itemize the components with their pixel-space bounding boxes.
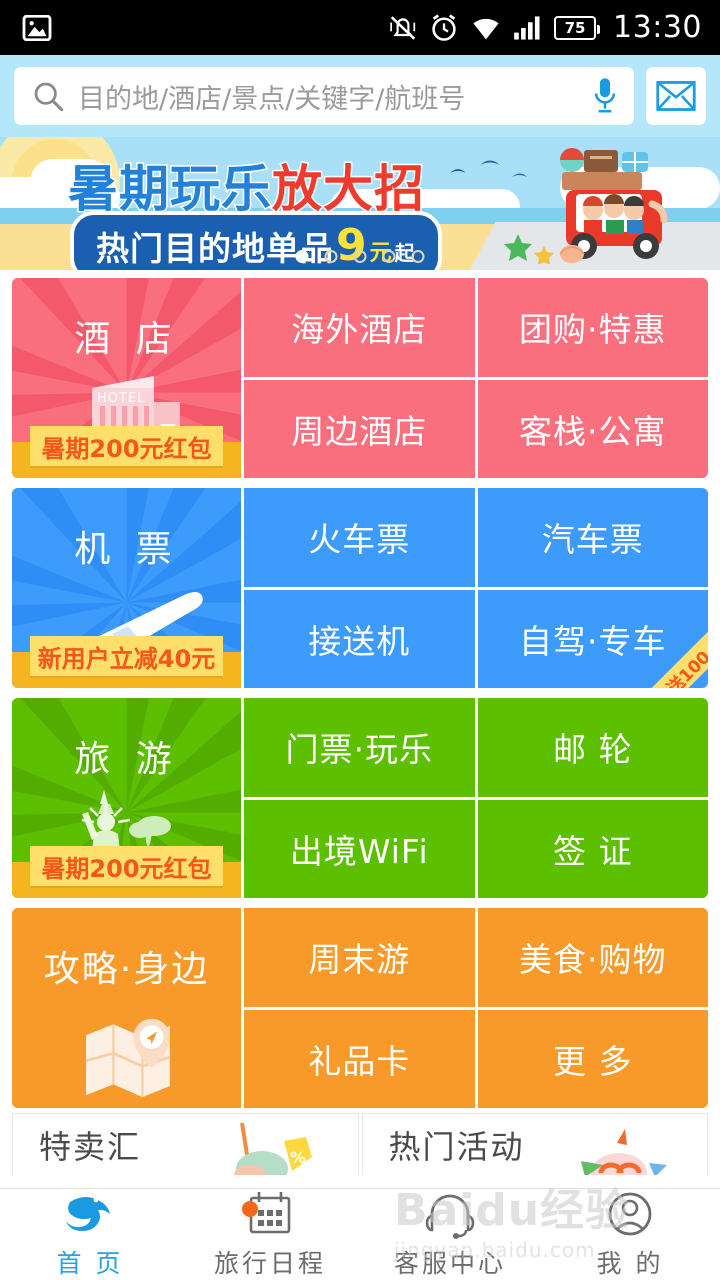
category-main-travel[interactable]: 旅 游 暑期200元红包 bbox=[12, 698, 244, 898]
banner-title-part1: 暑期玩乐 bbox=[68, 160, 272, 218]
person-icon bbox=[605, 1190, 655, 1240]
search-header: 目的地/酒店/景点/关键字/航班号 bbox=[0, 55, 720, 137]
cell-label: 礼品卡 bbox=[308, 1035, 410, 1083]
tab-itinerary[interactable]: 旅行日程 bbox=[180, 1189, 360, 1280]
status-bar-left bbox=[22, 15, 52, 41]
message-button[interactable] bbox=[646, 67, 706, 125]
cell-label: 出境WiFi bbox=[290, 825, 429, 873]
tab-label: 首 页 bbox=[57, 1244, 124, 1280]
category-main-flight[interactable]: 机 票 新用户立减40元 bbox=[12, 488, 244, 688]
tab-label: 旅行日程 bbox=[214, 1244, 326, 1280]
category-cell-overseas-hotel[interactable]: 海外酒店 bbox=[244, 278, 475, 377]
map-pin-icon bbox=[52, 1006, 202, 1108]
category-block-guide: 攻略·身边 周末游 美食·购物 礼品卡 更 多 bbox=[12, 908, 708, 1108]
dolphin-icon bbox=[62, 1190, 118, 1240]
tab-label: 客服中心 bbox=[394, 1244, 506, 1280]
category-cell-food-shopping[interactable]: 美食·购物 bbox=[478, 908, 709, 1007]
status-bar-right: 75 13:30 bbox=[388, 10, 702, 45]
tab-support[interactable]: 客服中心 bbox=[360, 1189, 540, 1280]
banner-dot-2[interactable] bbox=[325, 250, 338, 263]
vibrate-off-icon bbox=[388, 14, 418, 42]
svg-text:%: % bbox=[290, 1148, 306, 1167]
battery-icon: 75 bbox=[554, 16, 596, 40]
cell-label: 客栈·公寓 bbox=[519, 405, 667, 453]
wifi-icon bbox=[470, 14, 502, 42]
cell-label: 接送机 bbox=[308, 615, 410, 663]
itinerary-badge-dot bbox=[242, 1201, 258, 1217]
image-icon bbox=[22, 15, 52, 41]
cell-label: 美食·购物 bbox=[519, 933, 667, 981]
promo-badge-hotel[interactable]: 暑期200元红包 bbox=[30, 426, 223, 466]
category-cell-more[interactable]: 更 多 bbox=[478, 1010, 709, 1109]
category-main-hotel[interactable]: 酒 店 HOTEL 暑期200元红 bbox=[12, 278, 244, 478]
promo-badge-flight[interactable]: 新用户立减40元 bbox=[30, 636, 223, 676]
sale-tag-icon: % bbox=[228, 1121, 318, 1175]
banner-dot-3[interactable] bbox=[354, 250, 367, 263]
category-cell-tickets-fun[interactable]: 门票·玩乐 bbox=[244, 698, 475, 797]
feature-card-sale[interactable]: 特卖汇 % bbox=[12, 1113, 359, 1175]
search-icon bbox=[32, 80, 64, 112]
tab-profile[interactable]: 我 的 bbox=[540, 1189, 720, 1280]
search-input[interactable]: 目的地/酒店/景点/关键字/航班号 bbox=[14, 67, 634, 125]
category-cell-gift-card[interactable]: 礼品卡 bbox=[244, 1010, 475, 1109]
headset-icon bbox=[424, 1190, 476, 1240]
cell-label: 团购·特惠 bbox=[519, 303, 667, 351]
tab-label: 我 的 bbox=[597, 1244, 664, 1280]
cell-label: 邮 轮 bbox=[553, 723, 633, 771]
tab-home[interactable]: 首 页 bbox=[0, 1189, 180, 1280]
category-cell-inn-apartment[interactable]: 客栈·公寓 bbox=[478, 380, 709, 479]
category-title-travel: 旅 游 bbox=[74, 730, 178, 782]
category-block-travel: 旅 游 暑期200元红包 bbox=[12, 698, 708, 898]
category-cell-nearby-hotel[interactable]: 周边酒店 bbox=[244, 380, 475, 479]
category-cells-travel: 门票·玩乐 邮 轮 出境WiFi 签 证 bbox=[244, 698, 708, 898]
banner-dot-1[interactable] bbox=[296, 250, 309, 263]
category-cell-airport-transfer[interactable]: 接送机 bbox=[244, 590, 475, 689]
beach-items-icon bbox=[500, 228, 590, 264]
feature-card-activity[interactable]: 热门活动 bbox=[362, 1113, 709, 1175]
category-cells-guide: 周末游 美食·购物 礼品卡 更 多 bbox=[244, 908, 708, 1108]
category-grid: 酒 店 HOTEL 暑期200元红 bbox=[0, 278, 720, 1118]
category-cell-visa[interactable]: 签 证 bbox=[478, 800, 709, 899]
status-bar: 75 13:30 bbox=[0, 0, 720, 55]
category-title-hotel: 酒 店 bbox=[74, 310, 178, 362]
microphone-icon[interactable] bbox=[592, 77, 618, 115]
cell-label: 海外酒店 bbox=[291, 303, 427, 351]
alarm-icon bbox=[429, 13, 459, 43]
cell-label: 周边酒店 bbox=[291, 405, 427, 453]
category-cell-weekend-trip[interactable]: 周末游 bbox=[244, 908, 475, 1007]
app-root: 75 13:30 目的地/酒店/景点/关键字/航班号 bbox=[0, 0, 720, 1280]
signal-icon bbox=[513, 15, 543, 41]
cell-label: 自驾·专车 bbox=[519, 615, 667, 663]
cell-label: 签 证 bbox=[553, 825, 633, 873]
promo-banner[interactable]: 暑期玩乐放大招 热门目的地单品 9 元 起 bbox=[0, 137, 720, 270]
category-cell-overseas-wifi[interactable]: 出境WiFi bbox=[244, 800, 475, 899]
category-cell-groupon-deals[interactable]: 团购·特惠 bbox=[478, 278, 709, 377]
category-cells-hotel: 海外酒店 团购·特惠 周边酒店 客栈·公寓 bbox=[244, 278, 708, 478]
category-cell-cruise[interactable]: 邮 轮 bbox=[478, 698, 709, 797]
cell-label: 门票·玩乐 bbox=[286, 723, 434, 771]
battery-level: 75 bbox=[565, 19, 586, 37]
promo-badge-travel[interactable]: 暑期200元红包 bbox=[30, 846, 223, 886]
bottom-tab-bar: 首 页 旅行日程 客服中心 bbox=[0, 1188, 720, 1280]
search-placeholder-text: 目的地/酒店/景点/关键字/航班号 bbox=[78, 77, 592, 116]
banner-dot-4[interactable] bbox=[383, 250, 396, 263]
cell-label: 更 多 bbox=[553, 1035, 633, 1083]
category-cell-selfdrive-chauffeur[interactable]: 自驾·专车 送100 bbox=[478, 590, 709, 689]
category-title-flight: 机 票 bbox=[74, 520, 178, 572]
cell-label: 汽车票 bbox=[542, 513, 644, 561]
banner-title-part2: 放大招 bbox=[272, 160, 425, 218]
cell-label: 周末游 bbox=[308, 933, 410, 981]
feature-card-title: 热门活动 bbox=[389, 1122, 525, 1168]
banner-dot-5[interactable] bbox=[412, 250, 425, 263]
category-main-guide[interactable]: 攻略·身边 bbox=[12, 908, 244, 1108]
category-block-hotel: 酒 店 HOTEL 暑期200元红 bbox=[12, 278, 708, 478]
banner-dots bbox=[296, 250, 425, 263]
feature-cards: 特卖汇 % 热门活动 bbox=[12, 1113, 708, 1175]
cell-label: 火车票 bbox=[308, 513, 410, 561]
category-cells-flight: 火车票 汽车票 接送机 自驾·专车 送100 bbox=[244, 488, 708, 688]
feature-card-title: 特卖汇 bbox=[39, 1122, 141, 1168]
category-cell-train-ticket[interactable]: 火车票 bbox=[244, 488, 475, 587]
category-cell-bus-ticket[interactable]: 汽车票 bbox=[478, 488, 709, 587]
svg-text:HOTEL: HOTEL bbox=[97, 391, 145, 406]
envelope-icon bbox=[656, 80, 696, 112]
category-title-guide: 攻略·身边 bbox=[44, 940, 209, 992]
status-bar-clock: 13:30 bbox=[613, 10, 702, 45]
party-icon bbox=[567, 1121, 667, 1175]
category-block-flight: 机 票 新用户立减40元 火车票 汽车票 接送机 自驾·专车 送100 bbox=[12, 488, 708, 688]
